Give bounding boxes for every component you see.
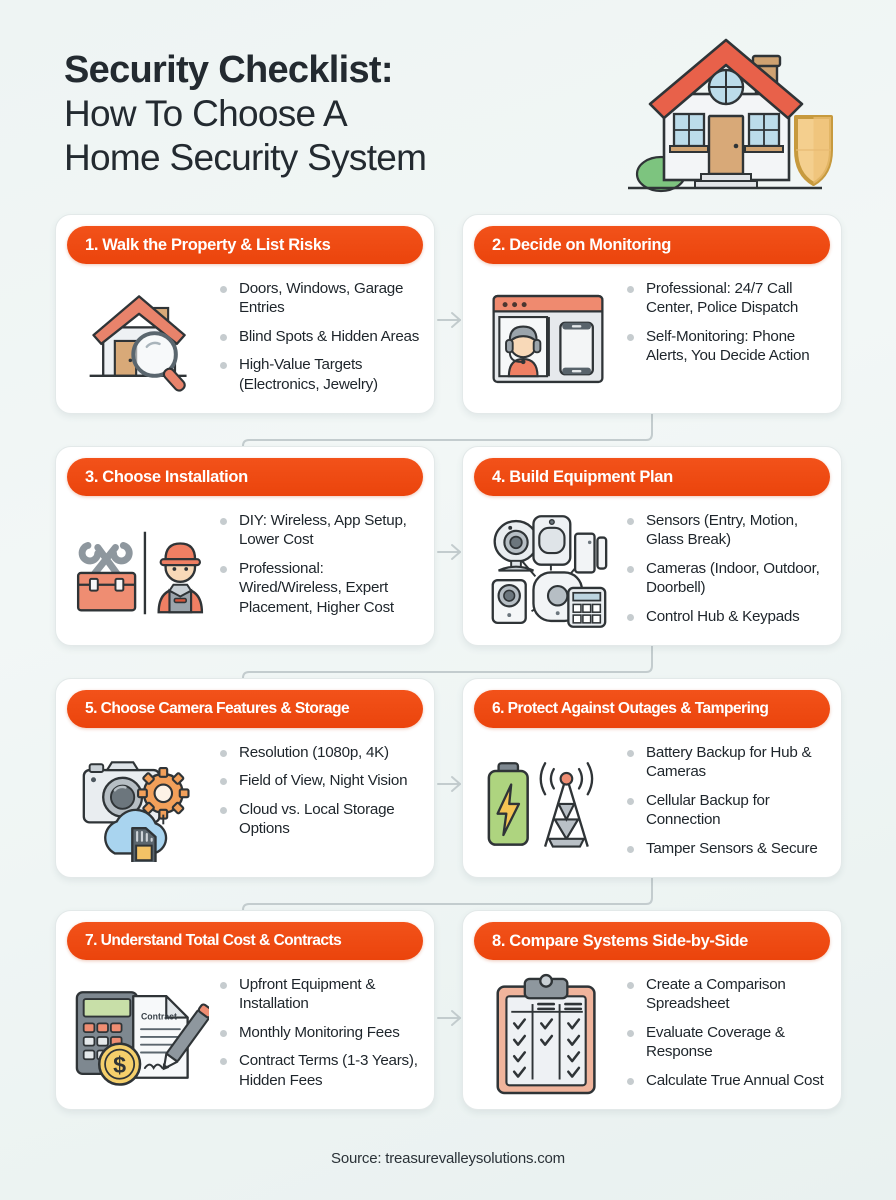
bullet-item: Tamper Sensors & Secure (627, 839, 829, 858)
battery-cell-tower-icon (473, 735, 623, 867)
bullet-item: Monthly Monitoring Fees (220, 1023, 422, 1042)
step-card-4-bullets: Sensors (Entry, Motion, Glass Break) Cam… (623, 503, 829, 626)
bullet-item: Control Hub & Keypads (627, 607, 829, 626)
bullet-item: Field of View, Night Vision (220, 771, 422, 790)
step-card-2-title: 2. Decide on Monitoring (492, 236, 671, 255)
step-card-4[interactable]: 4. Build Equipment Plan (462, 446, 842, 646)
monitoring-operator-phone-icon (473, 271, 623, 403)
step-card-2-header: 2. Decide on Monitoring (474, 226, 830, 264)
steps-grid: 1. Walk the Property & List Risks (0, 208, 896, 1136)
steps-row-4: 7. Understand Total Cost & Contracts (0, 904, 896, 1136)
step-card-7-header: 7. Understand Total Cost & Contracts (67, 922, 423, 960)
step-card-6-bullets: Battery Backup for Hub & Cameras Cellula… (623, 735, 829, 858)
calculator-contract-coin-icon: Contract (66, 967, 216, 1099)
security-devices-cluster-icon (473, 503, 623, 635)
svg-text:$: $ (113, 1052, 126, 1078)
step-card-3-header: 3. Choose Installation (67, 458, 423, 496)
steps-row-3: 5. Choose Camera Features & Storage (0, 672, 896, 904)
title-line-2: How To Choose A (64, 92, 426, 135)
bullet-item: Cellular Backup for Connection (627, 791, 829, 830)
house-with-shield-icon (616, 22, 856, 202)
step-card-3-bullets: DIY: Wireless, App Setup, Lower Cost Pro… (216, 503, 422, 617)
bullet-item: Blind Spots & Hidden Areas (220, 327, 422, 346)
bullet-item: Upfront Equipment & Installation (220, 975, 422, 1014)
title-line-1: Security Checklist: (64, 48, 426, 92)
bullet-item: DIY: Wireless, App Setup, Lower Cost (220, 511, 422, 550)
step-card-7[interactable]: 7. Understand Total Cost & Contracts (55, 910, 435, 1110)
step-card-4-title: 4. Build Equipment Plan (492, 468, 673, 487)
house-magnifier-icon (66, 271, 216, 403)
title-line-3: Home Security System (64, 136, 426, 179)
contract-label: Contract (141, 1011, 177, 1021)
toolbox-technician-icon (66, 503, 216, 635)
step-card-1-bullets: Doors, Windows, Garage Entries Blind Spo… (216, 271, 422, 394)
source-text: Source: treasurevalleysolutions.com (331, 1150, 565, 1167)
step-card-7-bullets: Upfront Equipment & Installation Monthly… (216, 967, 422, 1090)
step-card-1-header: 1. Walk the Property & List Risks (67, 226, 423, 264)
bullet-item: Calculate True Annual Cost (627, 1071, 829, 1090)
step-card-6-header: 6. Protect Against Outages & Tampering (474, 690, 830, 728)
header: Security Checklist: How To Choose A Home… (0, 0, 896, 200)
bullet-item: Battery Backup for Hub & Cameras (627, 743, 829, 782)
clipboard-checklist-icon (473, 967, 623, 1099)
step-card-7-title: 7. Understand Total Cost & Contracts (85, 932, 341, 950)
source-footer: Source: treasurevalleysolutions.com (0, 1150, 896, 1167)
step-card-8-header: 8. Compare Systems Side-by-Side (474, 922, 830, 960)
step-card-6[interactable]: 6. Protect Against Outages & Tampering (462, 678, 842, 878)
step-card-2-bullets: Professional: 24/7 Call Center, Police D… (623, 271, 829, 366)
bullet-item: High-Value Targets (Electronics, Jewelry… (220, 355, 422, 394)
step-card-6-title: 6. Protect Against Outages & Tampering (492, 700, 768, 718)
step-card-8-bullets: Create a Comparison Spreadsheet Evaluate… (623, 967, 829, 1090)
step-card-2[interactable]: 2. Decide on Monitoring (462, 214, 842, 414)
page-title: Security Checklist: How To Choose A Home… (64, 48, 426, 179)
bullet-item: Contract Terms (1-3 Years), Hidden Fees (220, 1051, 422, 1090)
step-card-8-title: 8. Compare Systems Side-by-Side (492, 932, 748, 951)
bullet-item: Evaluate Coverage & Response (627, 1023, 829, 1062)
bullet-item: Cloud vs. Local Storage Options (220, 800, 422, 839)
step-card-3-title: 3. Choose Installation (85, 468, 248, 487)
bullet-item: Cameras (Indoor, Outdoor, Doorbell) (627, 559, 829, 598)
step-card-1[interactable]: 1. Walk the Property & List Risks (55, 214, 435, 414)
bullet-item: Professional: 24/7 Call Center, Police D… (627, 279, 829, 318)
bullet-item: Professional: Wired/Wireless, Expert Pla… (220, 559, 422, 617)
step-card-3[interactable]: 3. Choose Installation (55, 446, 435, 646)
bullet-item: Resolution (1080p, 4K) (220, 743, 422, 762)
bullet-item: Doors, Windows, Garage Entries (220, 279, 422, 318)
step-card-1-title: 1. Walk the Property & List Risks (85, 236, 331, 255)
steps-row-1: 1. Walk the Property & List Risks (0, 208, 896, 440)
bullet-item: Self-Monitoring: Phone Alerts, You Decid… (627, 327, 829, 366)
bullet-item: Sensors (Entry, Motion, Glass Break) (627, 511, 829, 550)
bullet-item: Create a Comparison Spreadsheet (627, 975, 829, 1014)
step-card-5[interactable]: 5. Choose Camera Features & Storage (55, 678, 435, 878)
step-card-5-title: 5. Choose Camera Features & Storage (85, 700, 349, 718)
step-card-5-bullets: Resolution (1080p, 4K) Field of View, Ni… (216, 735, 422, 839)
step-card-5-header: 5. Choose Camera Features & Storage (67, 690, 423, 728)
steps-row-2: 3. Choose Installation (0, 440, 896, 672)
step-card-8[interactable]: 8. Compare Systems Side-by-Side (462, 910, 842, 1110)
camera-gear-cloud-sdcard-icon (66, 735, 216, 867)
step-card-4-header: 4. Build Equipment Plan (474, 458, 830, 496)
